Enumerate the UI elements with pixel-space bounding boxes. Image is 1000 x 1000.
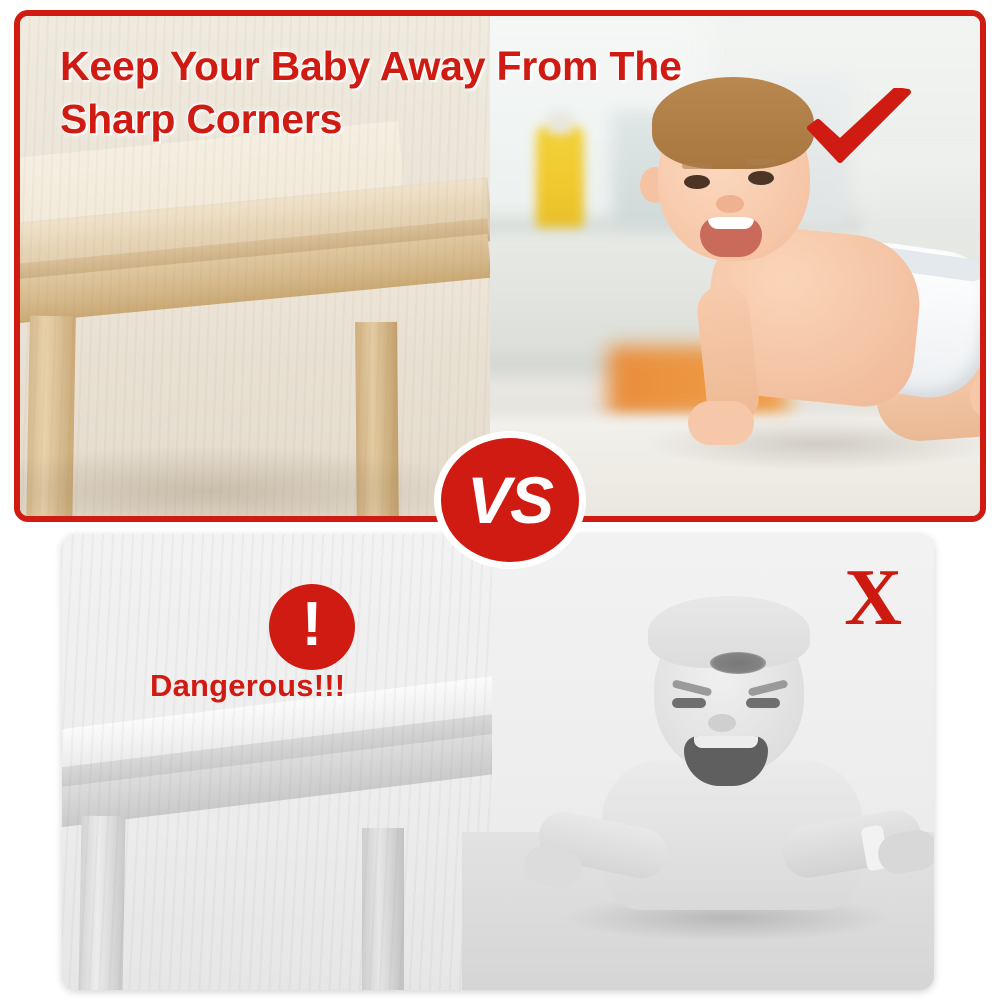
crying-baby-eye-left [672,698,706,708]
baby-nose [716,195,744,213]
danger-label: Dangerous!!! [150,668,345,704]
x-mark-icon: X [844,558,902,638]
vs-label: VS [467,462,553,538]
crying-baby-nose [708,714,736,732]
baby-eyebrow-left [682,163,712,169]
baby-mouth [700,217,762,257]
crying-baby-eye-right [746,698,780,708]
product-infographic: Keep Your Baby Away From The Sharp Corne… [0,0,1000,1000]
page-title: Keep Your Baby Away From The Sharp Corne… [60,40,840,147]
vs-badge: VS [441,438,579,562]
forehead-injury-bump [710,652,766,674]
danger-panel: ! Dangerous!!! X [62,534,934,990]
baby-eye-left [684,175,710,189]
warning-glyph: ! [302,594,323,656]
baby-hand [688,401,754,445]
crying-baby [482,602,934,990]
check-mark-icon [804,88,914,174]
baby-eyebrow-right [746,159,776,165]
table-shadow [20,446,490,522]
warning-exclamation-icon: ! [269,584,355,670]
baby-eye-right [748,171,774,185]
